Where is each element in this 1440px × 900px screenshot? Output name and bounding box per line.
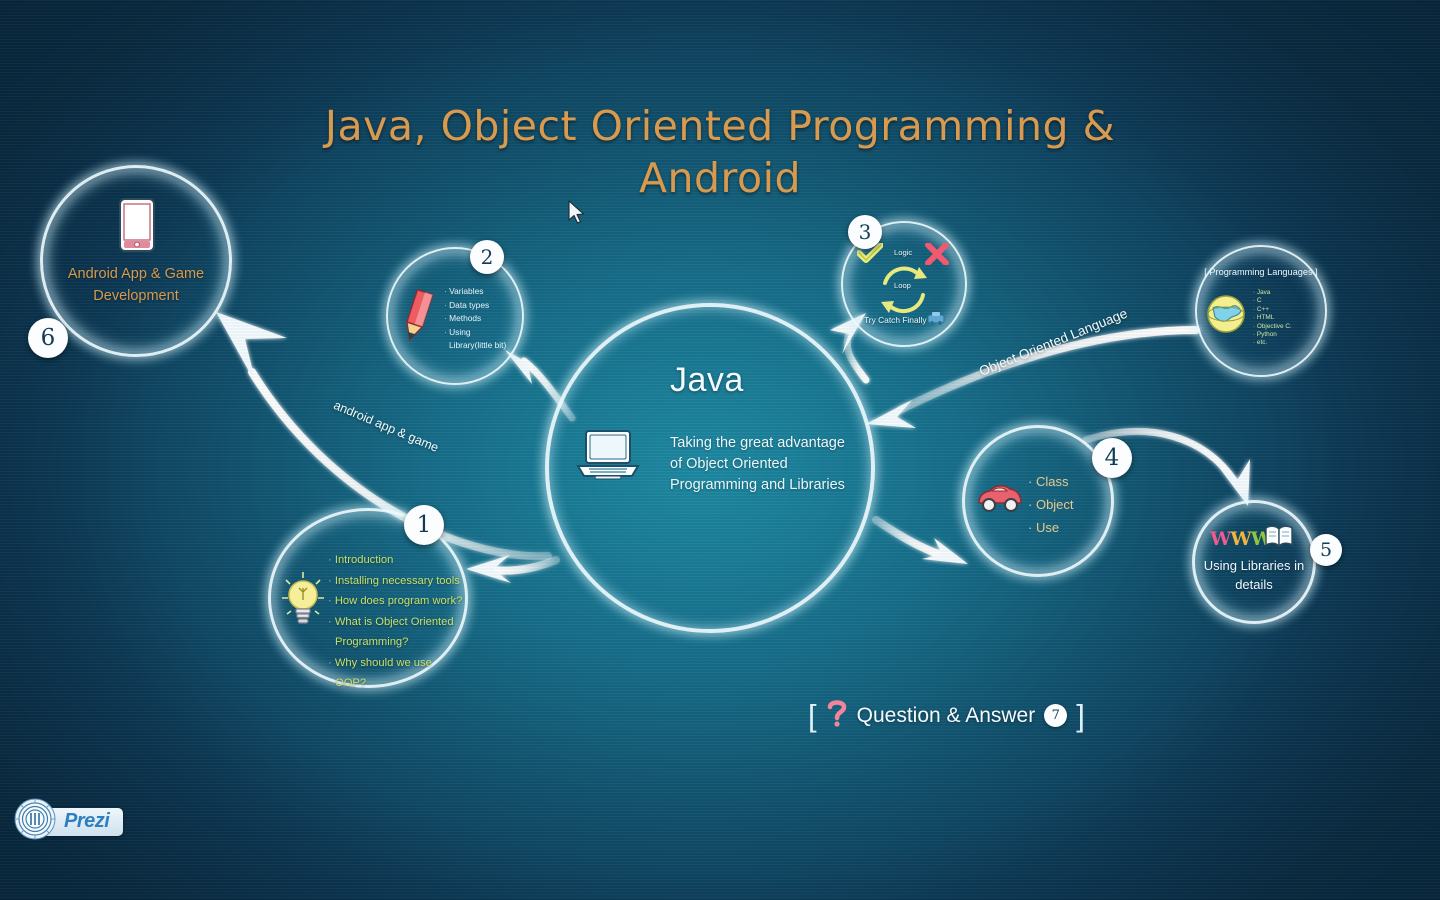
car-icon (976, 481, 1024, 518)
node5-caption: Using Libraries in details (1198, 556, 1310, 594)
java-description: Taking the great advantage of Object Ori… (670, 433, 850, 496)
node3-label-try: Try Catch Finally (864, 315, 927, 325)
badge-number-3: 3 (848, 215, 882, 249)
list-item: Java (1253, 289, 1292, 297)
node-programming-languages[interactable]: [ Programming Languages ] Java C C++ HTM… (1195, 245, 1327, 377)
list-item: Installing necessary tools (328, 571, 462, 592)
node-java-center[interactable]: Java Taking the great advantage of Objec… (545, 303, 875, 633)
badge-number-5: 5 (1310, 534, 1342, 566)
node-oop-concepts[interactable]: Class Object Use (962, 425, 1114, 577)
badge-number-2: 2 (470, 240, 504, 274)
list-item: How does program work? (328, 591, 462, 612)
gear-icon (927, 311, 945, 330)
bracket-left: [ (808, 700, 817, 731)
node-android-development[interactable]: Android App & Game Development (40, 165, 232, 357)
node1-items: Introduction Installing necessary tools … (328, 550, 462, 694)
list-item: Data types (444, 299, 506, 313)
node3-label-logic: Logic (894, 248, 912, 257)
list-item: HTML (1253, 314, 1292, 322)
arrowhead-android (216, 312, 287, 384)
list-item: Python (1253, 331, 1292, 339)
node3-label-loop: Loop (894, 281, 911, 290)
loop-arrows-icon (873, 263, 935, 322)
book-icon (1264, 524, 1294, 553)
java-heading: Java (670, 361, 744, 400)
list-item: Use (1028, 516, 1074, 539)
node6-ring (40, 165, 232, 357)
list-item: etc. (1253, 339, 1292, 347)
node-libraries[interactable]: WWW Using Libraries in details (1192, 500, 1316, 624)
list-item: What is Object Oriented (328, 612, 462, 633)
list-item: C (1253, 297, 1292, 305)
list-item: Class (1028, 470, 1074, 493)
arrow-java-to-oop (876, 520, 944, 556)
list-item: Why should we use (328, 653, 462, 674)
languages-heading: [ Programming Languages ] (1199, 267, 1323, 277)
list-item: Programming? (328, 632, 462, 653)
list-item: Library(little bit) (444, 339, 506, 353)
www-logo: WWW (1210, 528, 1271, 550)
badge-number-7: 7 (1044, 704, 1067, 727)
node6-caption: Android App & Game Development (50, 263, 222, 307)
question-answer-label: Question & Answer (857, 704, 1036, 728)
node2-items: Variables Data types Methods Using Libra… (444, 285, 506, 353)
node-basics[interactable]: Variables Data types Methods Using Libra… (386, 247, 524, 385)
list-item: Objective C. (1253, 323, 1292, 331)
list-item: Methods (444, 312, 506, 326)
prezi-logo[interactable]: Prezi (14, 798, 123, 845)
badge-number-1: 1 (404, 505, 444, 545)
bracket-right: ] (1076, 700, 1085, 731)
laptop-icon (575, 428, 641, 487)
globe-icon (1205, 293, 1247, 340)
list-item: OOP? (328, 673, 462, 694)
list-item: Using (444, 326, 506, 340)
lightbulb-icon (280, 570, 326, 633)
pencil-icon (398, 289, 436, 350)
list-item: Introduction (328, 550, 462, 571)
question-mark-icon (826, 698, 848, 733)
node4-items: Class Object Use (1028, 470, 1074, 539)
prezi-medallion-icon (14, 798, 56, 845)
languages-items: Java C C++ HTML Objective C. Python etc. (1253, 289, 1292, 348)
page-title: Java, Object Oriented Programming & Andr… (300, 100, 1140, 204)
badge-number-6: 6 (28, 318, 68, 358)
node-question-answer[interactable]: [ Question & Answer 7 ] (808, 698, 1085, 733)
list-item: Variables (444, 285, 506, 299)
tablet-icon (118, 197, 156, 258)
mouse-cursor (568, 200, 586, 231)
list-item: Object (1028, 493, 1074, 516)
presentation-canvas[interactable]: Java, Object Oriented Programming & Andr… (0, 0, 1440, 900)
badge-number-4: 4 (1092, 438, 1132, 478)
list-item: C++ (1253, 306, 1292, 314)
